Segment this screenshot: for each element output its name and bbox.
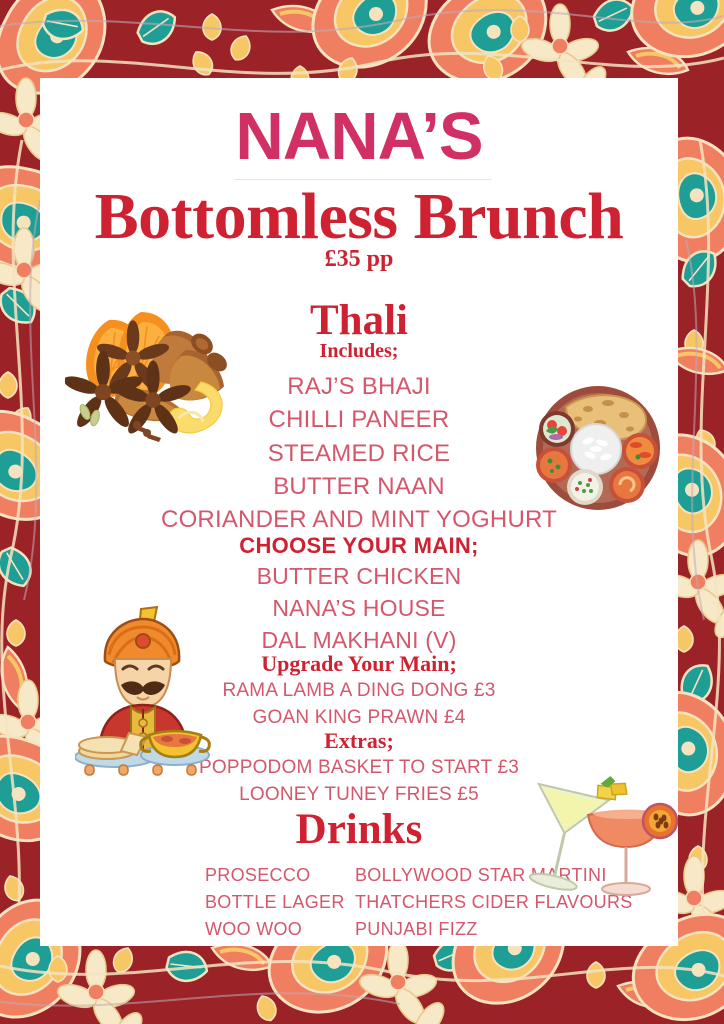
list-item: PUNJABI FIZZ [355,916,633,943]
thali-plate-illustration [530,385,666,516]
subtitle: Bottomless Brunch [40,182,678,251]
mains-section-heading: CHOOSE YOUR MAIN; [40,533,678,559]
waiter-illustration [75,605,211,782]
price-label: £35 pp [40,246,678,273]
list-item: WOO WOO [205,916,315,943]
list-item: PROSECCO [205,862,315,889]
drinks-column-left: PROSECCO BOTTLE LAGER WOO WOO [205,862,315,943]
page-title: NANA’S [40,103,678,170]
menu-card: NANA’S Bottomless Brunch £35 pp Thali In… [40,78,678,946]
list-item: BOTTLE LAGER [205,889,315,916]
spices-illustration [65,300,235,455]
list-item: BUTTER CHICKEN [40,561,678,593]
cocktails-illustration [502,775,678,912]
menu-poster: NANA’S Bottomless Brunch £35 pp Thali In… [0,0,724,1024]
